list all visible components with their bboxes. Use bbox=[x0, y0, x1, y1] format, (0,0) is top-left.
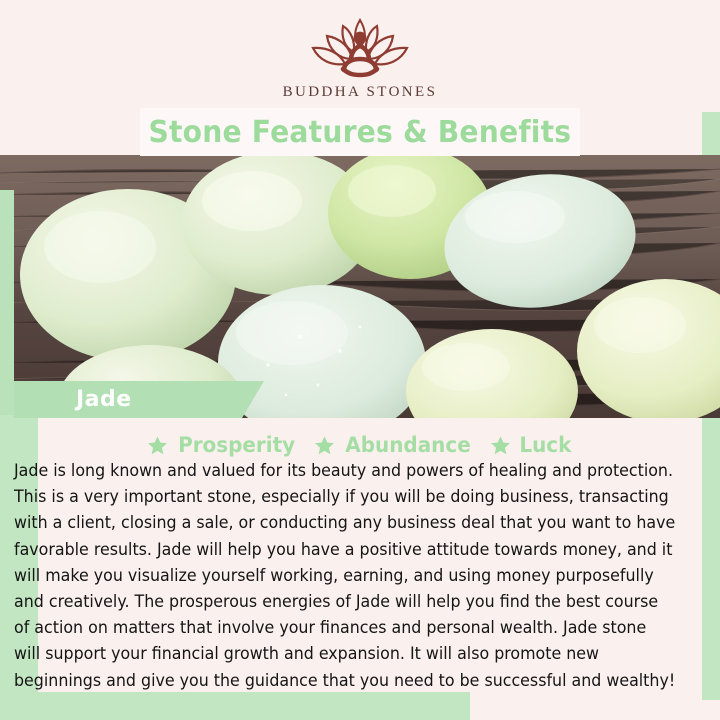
decorative-frame-bottom bbox=[0, 692, 470, 720]
stone-photo bbox=[0, 155, 720, 418]
section-title-banner: Stone Features & Benefits bbox=[140, 108, 580, 156]
brand-header: BUDDHA STONES bbox=[0, 0, 720, 112]
stone-name-band: Jade bbox=[14, 381, 264, 418]
brand-logo: BUDDHA STONES bbox=[0, 14, 720, 101]
brand-name: BUDDHA STONES bbox=[283, 84, 438, 101]
benefit-item-abundance: Abundance bbox=[314, 433, 474, 457]
benefit-label: Luck bbox=[520, 433, 572, 457]
benefits-row: Prosperity Abundance Luck bbox=[0, 430, 720, 460]
stone-description: Jade is long known and valued for its be… bbox=[14, 458, 677, 694]
star-icon bbox=[147, 435, 168, 456]
star-icon bbox=[490, 435, 511, 456]
page-title: Stone Features & Benefits bbox=[149, 115, 572, 150]
lotus-meditation-icon bbox=[299, 14, 421, 82]
benefit-item-prosperity: Prosperity bbox=[147, 433, 298, 457]
benefit-item-luck: Luck bbox=[490, 433, 573, 457]
benefit-label: Abundance bbox=[346, 433, 471, 457]
stone-photo-image bbox=[0, 155, 720, 418]
benefit-label: Prosperity bbox=[178, 433, 295, 457]
star-icon bbox=[314, 435, 335, 456]
stone-name: Jade bbox=[76, 387, 132, 412]
stone-info-card: BUDDHA STONES Stone Features & Benefits bbox=[0, 0, 720, 720]
